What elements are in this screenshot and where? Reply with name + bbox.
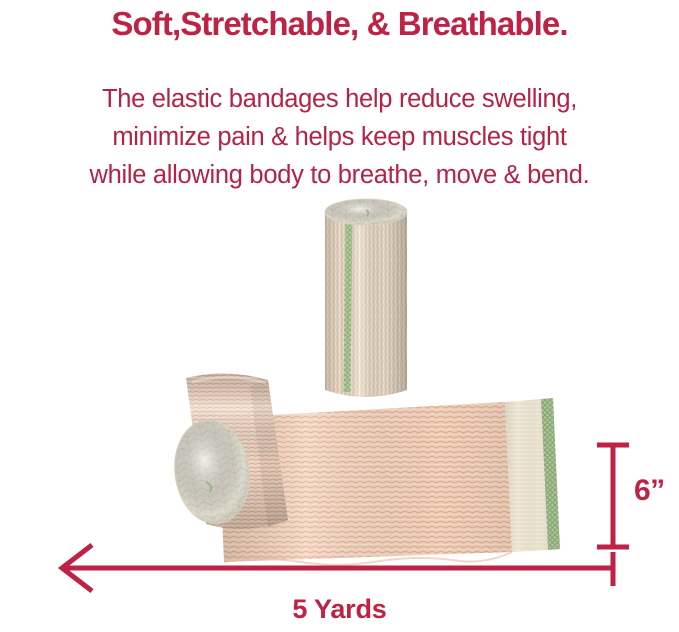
length-dimension-label: 5 Yards — [0, 594, 679, 625]
lying-roll — [168, 373, 288, 529]
subtitle-block: The elastic bandages help reduce swellin… — [0, 80, 679, 194]
standing-roll — [325, 199, 407, 397]
subtitle-line-1: The elastic bandages help reduce swellin… — [0, 80, 679, 118]
subtitle-line-2: minimize pain & helps keep muscles tight — [0, 118, 679, 156]
product-image — [0, 190, 679, 570]
page-title: Soft,Stretchable, & Breathable. — [0, 6, 679, 43]
subtitle-line-3: while allowing body to breathe, move & b… — [0, 156, 679, 194]
